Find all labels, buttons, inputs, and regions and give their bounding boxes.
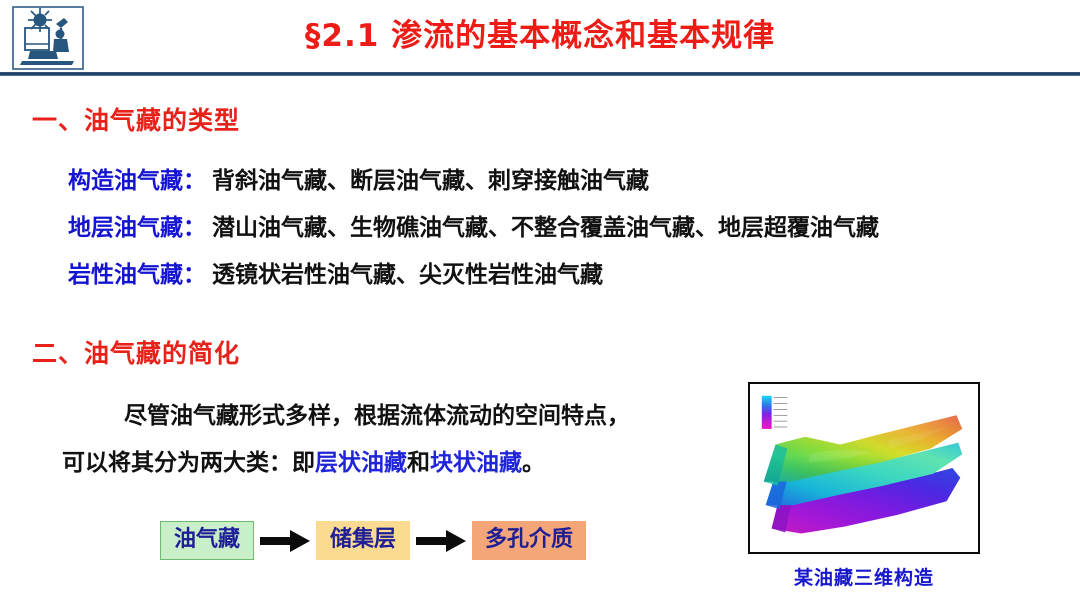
flow-diagram: 油气藏 储集层 多孔介质 <box>160 521 586 560</box>
type-value: 透镜状岩性油气藏、尖灭性岩性油气藏 <box>212 262 603 288</box>
slide-root: §2.1 渗流的基本概念和基本规律 一、油气藏的类型 构造油气藏：背斜油气藏、断… <box>0 0 1080 607</box>
body-paragraph: 尽管油气藏形式多样，根据流体流动的空间特点， 可以将其分为两大类：即层状油藏和块… <box>62 393 722 487</box>
body-line-1: 尽管油气藏形式多样，根据流体流动的空间特点， <box>62 393 722 440</box>
figure-block: 某油藏三维构造 <box>748 382 980 590</box>
list-item: 岩性油气藏：透镜状岩性油气藏、尖灭性岩性油气藏 <box>68 252 1058 299</box>
emphasis-layered-reservoir: 层状油藏 <box>315 450 407 476</box>
type-label: 构造油气藏 <box>68 168 183 194</box>
flow-step-reservoir[interactable]: 油气藏 <box>160 521 254 560</box>
reservoir-type-list: 构造油气藏：背斜油气藏、断层油气藏、刺穿接触油气藏 地层油气藏：潜山油气藏、生物… <box>68 158 1058 299</box>
type-label: 地层油气藏 <box>68 215 183 241</box>
body-line-2-lead: 可以将其分为两大类：即 <box>62 450 315 476</box>
body-line-2-tail: 。 <box>522 450 545 476</box>
reservoir-3d-structure-image <box>748 382 980 554</box>
figure-caption: 某油藏三维构造 <box>748 563 980 590</box>
list-item: 地层油气藏：潜山油气藏、生物礁油气藏、不整合覆盖油气藏、地层超覆油气藏 <box>68 205 1058 252</box>
header-divider <box>0 72 1080 76</box>
section-heading-reservoir-simplification: 二、油气藏的简化 <box>32 334 240 370</box>
flow-step-reservoir-bed[interactable]: 储集层 <box>316 521 410 560</box>
right-arrow-icon <box>410 522 472 560</box>
type-label: 岩性油气藏 <box>68 262 183 288</box>
body-line-2: 可以将其分为两大类：即层状油藏和块状油藏。 <box>62 440 722 487</box>
type-value: 潜山油气藏、生物礁油气藏、不整合覆盖油气藏、地层超覆油气藏 <box>212 215 879 241</box>
type-colon: ： <box>183 215 206 241</box>
type-value: 背斜油气藏、断层油气藏、刺穿接触油气藏 <box>212 168 649 194</box>
list-item: 构造油气藏：背斜油气藏、断层油气藏、刺穿接触油气藏 <box>68 158 1058 205</box>
type-colon: ： <box>183 262 206 288</box>
right-arrow-icon <box>254 522 316 560</box>
emphasis-massive-reservoir: 块状油藏 <box>430 450 522 476</box>
flow-step-porous-medium[interactable]: 多孔介质 <box>472 521 586 560</box>
section-heading-reservoir-types: 一、油气藏的类型 <box>32 101 240 137</box>
slide-header: §2.1 渗流的基本概念和基本规律 <box>0 0 1080 78</box>
page-title: §2.1 渗流的基本概念和基本规律 <box>0 14 1080 58</box>
body-line-2-conjunction: 和 <box>407 450 430 476</box>
type-colon: ： <box>183 168 206 194</box>
